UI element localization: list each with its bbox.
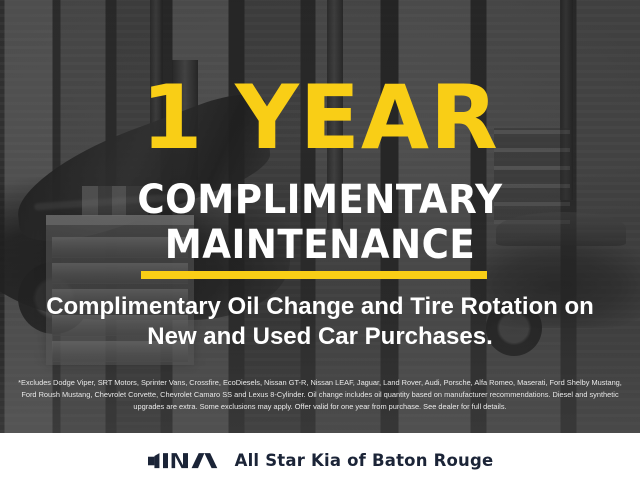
disclaimer-fine-print: *Excludes Dodge Viper, SRT Motors, Sprin… xyxy=(14,377,626,412)
headline-primary: 1 YEAR xyxy=(0,74,640,162)
yellow-divider-rule xyxy=(141,271,487,279)
kia-logo[interactable] xyxy=(147,451,219,471)
headline-secondary-line-1: COMPLIMENTARY xyxy=(22,180,617,220)
dealer-name: All Star Kia of Baton Rouge xyxy=(235,451,494,470)
subheadline: Complimentary Oil Change and Tire Rotati… xyxy=(20,292,620,352)
headline-secondary-line-2: MAINTENANCE xyxy=(22,225,617,265)
dealer-footer-bar: All Star Kia of Baton Rouge xyxy=(0,433,640,488)
advertisement-banner[interactable]: 1 YEAR COMPLIMENTARY MAINTENANCE Complim… xyxy=(0,0,640,488)
hero-text-content: 1 YEAR COMPLIMENTARY MAINTENANCE Complim… xyxy=(0,0,640,433)
hero-banner: 1 YEAR COMPLIMENTARY MAINTENANCE Complim… xyxy=(0,0,640,433)
